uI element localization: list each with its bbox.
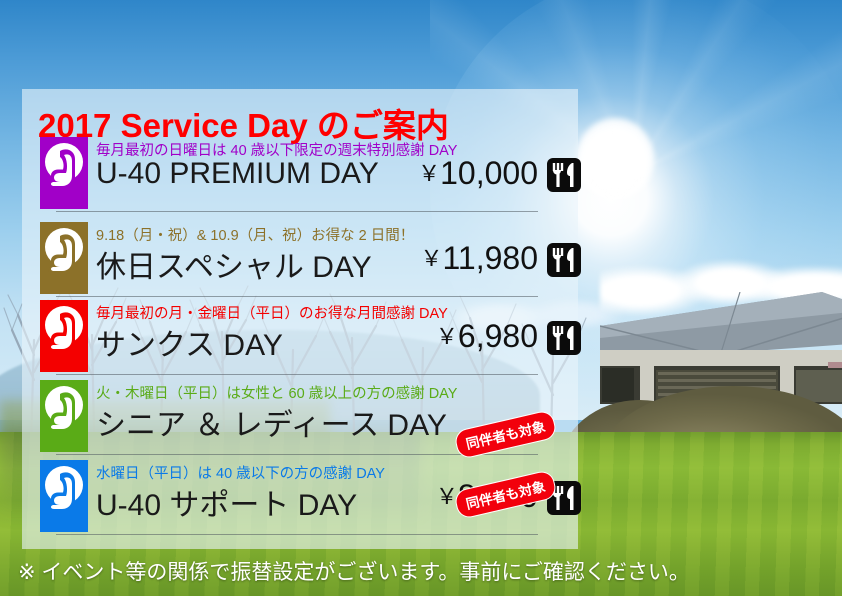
row-title: シニア ＆ レディース DAY	[96, 400, 447, 444]
thumbs-up-icon	[40, 137, 88, 209]
row-divider	[56, 296, 538, 297]
row-divider	[56, 374, 538, 375]
fork-and-knife-icon	[546, 320, 582, 356]
row-body: 毎月最初の日曜日は 40 歳以下限定の週末特別感謝 DAYU-40 PREMIU…	[96, 137, 582, 209]
thumbs-up-icon	[40, 460, 88, 532]
row-title: サンクス DAY	[96, 320, 283, 364]
row-title: U-40 PREMIUM DAY	[96, 157, 379, 191]
service-day-row: 9.18（月・祝）& 10.9（月、祝）お得な 2 日間！休日スペシャル DAY…	[40, 222, 580, 298]
row-title: 休日スペシャル DAY	[96, 242, 372, 286]
row-title: U-40 サポート DAY	[96, 480, 357, 524]
row-divider	[56, 534, 538, 535]
poster-root: 2017 Service Day のご案内 毎月最初の日曜日は 40 歳以下限定…	[0, 0, 842, 596]
footer-note: ※ イベント等の関係で振替設定がございます。事前にご確認ください。	[18, 556, 690, 586]
row-main: U-40 PREMIUM DAY￥10,000	[96, 157, 582, 201]
row-main: サンクス DAY￥6,980	[96, 320, 582, 364]
thumbs-up-icon	[40, 300, 88, 372]
fork-and-knife-icon	[546, 157, 582, 193]
thumbs-up-icon	[40, 380, 88, 452]
fork-and-knife-icon	[546, 242, 582, 278]
row-main: 休日スペシャル DAY￥11,980	[96, 242, 582, 286]
row-body: 9.18（月・祝）& 10.9（月、祝）お得な 2 日間！休日スペシャル DAY…	[96, 222, 582, 294]
service-day-row: 毎月最初の日曜日は 40 歳以下限定の週末特別感謝 DAYU-40 PREMIU…	[40, 137, 580, 213]
row-divider	[56, 211, 538, 212]
row-price: ￥11,980	[420, 240, 538, 277]
thumbs-up-icon	[40, 222, 88, 294]
row-body: 毎月最初の月・金曜日（平日）のお得な月間感謝 DAYサンクス DAY￥6,980	[96, 300, 582, 372]
row-price: ￥6,980	[436, 318, 538, 355]
row-price: ￥10,000	[418, 155, 538, 192]
service-day-row: 毎月最初の月・金曜日（平日）のお得な月間感謝 DAYサンクス DAY￥6,980	[40, 300, 580, 376]
